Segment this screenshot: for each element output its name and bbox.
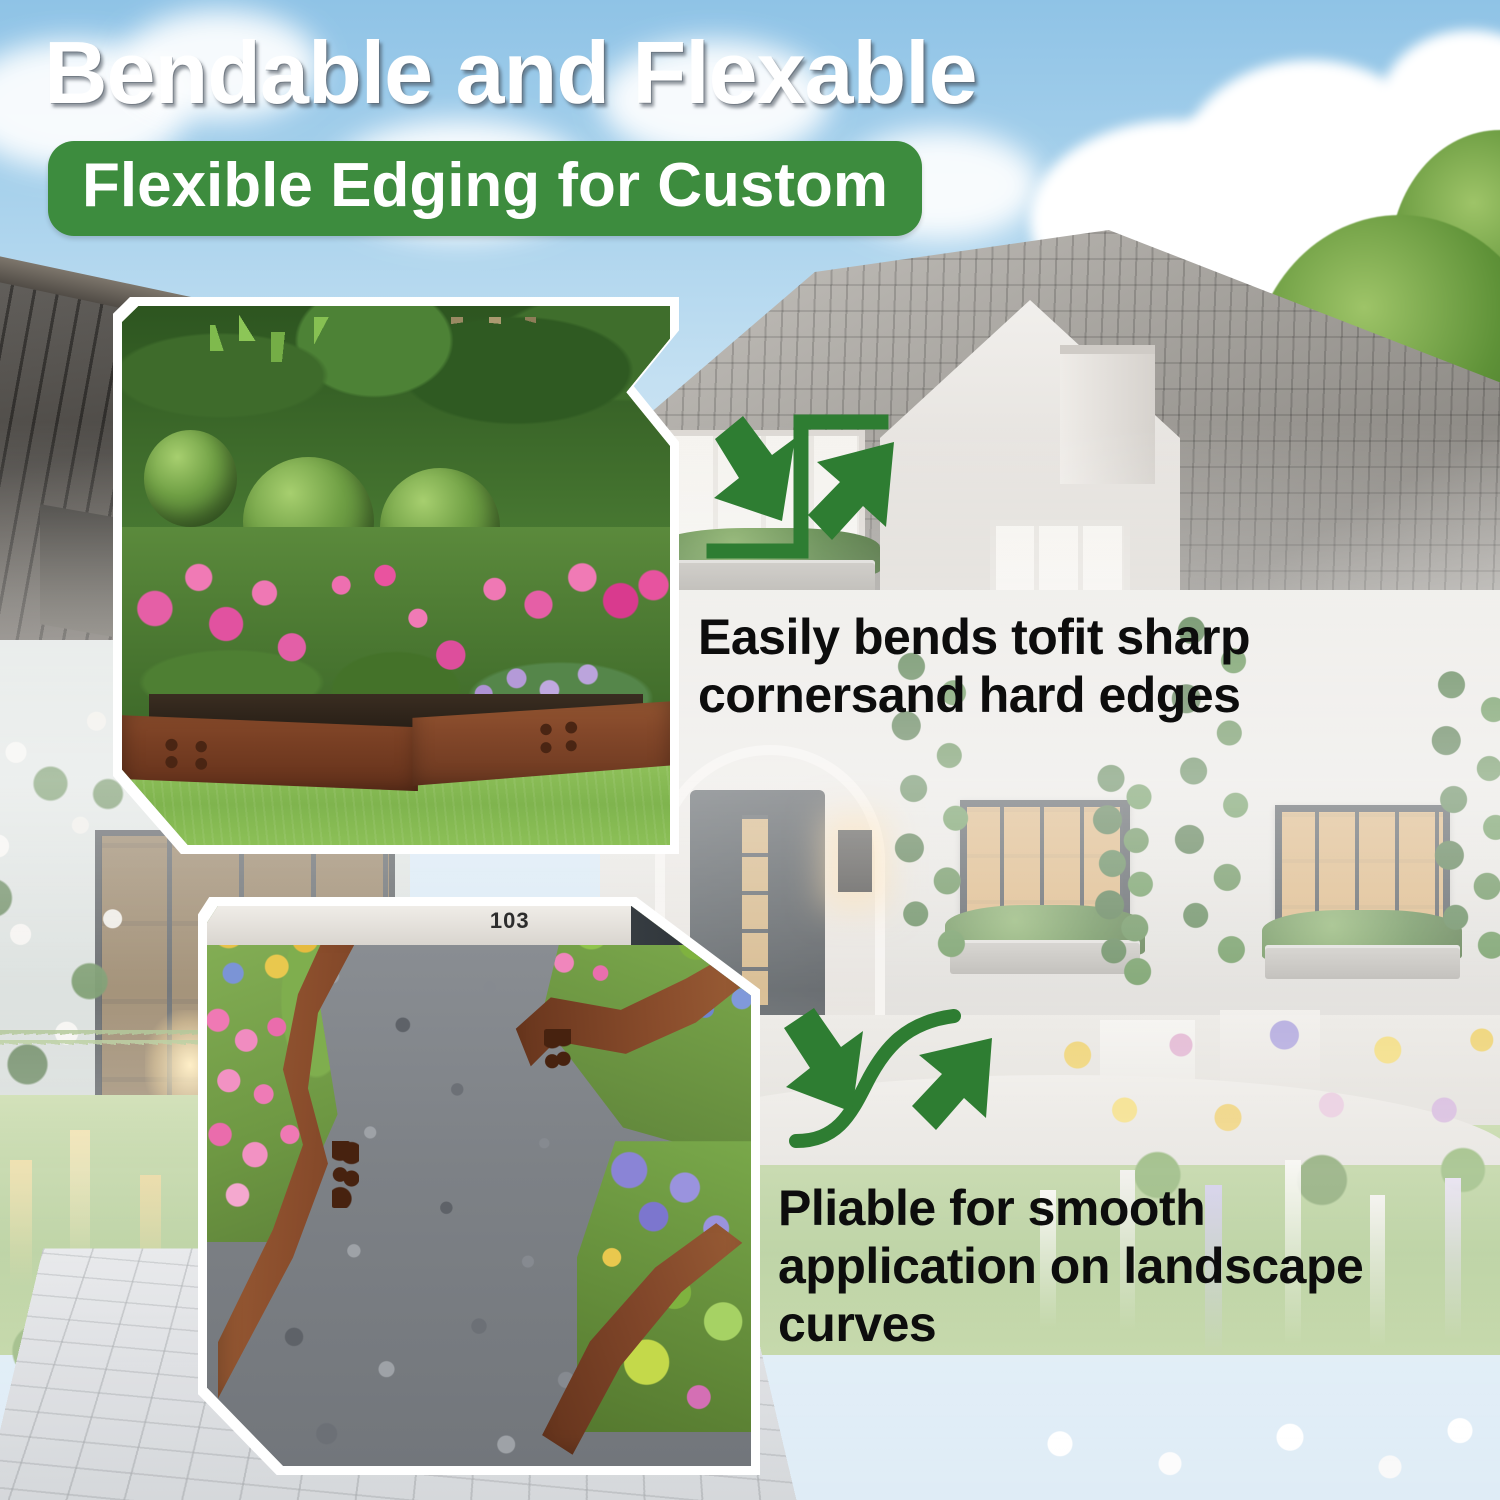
page-title: Bendable and Flexable (44, 22, 977, 124)
feature-landscape-curves-text: Pliable for smooth application on landsc… (778, 1179, 1438, 1353)
s-curve-arrows-icon (778, 1008, 1438, 1163)
feature-landscape-curves: Pliable for smooth application on landsc… (778, 1008, 1438, 1353)
feature-sharp-corners: Easily bends tofit sharp cornersand hard… (698, 414, 1338, 724)
rose-bed (122, 527, 670, 721)
photo-panel-corner-bed (113, 297, 679, 854)
edging-connector-rivets (332, 1141, 359, 1208)
subtitle-text: Flexible Edging for Custom (82, 150, 888, 221)
house-number: 103 (490, 908, 530, 934)
subtitle-banner: Flexible Edging for Custom (48, 141, 922, 236)
edging-connector-rivets (544, 1029, 571, 1091)
photo-panel-curved-path: 103 (198, 897, 760, 1475)
edging-connector-rivets (528, 716, 588, 765)
banana-leaves (210, 311, 484, 473)
topiary-ball (144, 430, 237, 527)
step-corner-arrows-icon (698, 414, 1338, 594)
photo-curved-path: 103 (207, 906, 751, 1466)
edging-connector-rivets (155, 732, 221, 775)
photo-corner-bed (122, 306, 670, 845)
product-infographic: Bendable and Flexable Flexible Edging fo… (0, 0, 1500, 1500)
feature-sharp-corners-text: Easily bends tofit sharp cornersand hard… (698, 608, 1338, 724)
